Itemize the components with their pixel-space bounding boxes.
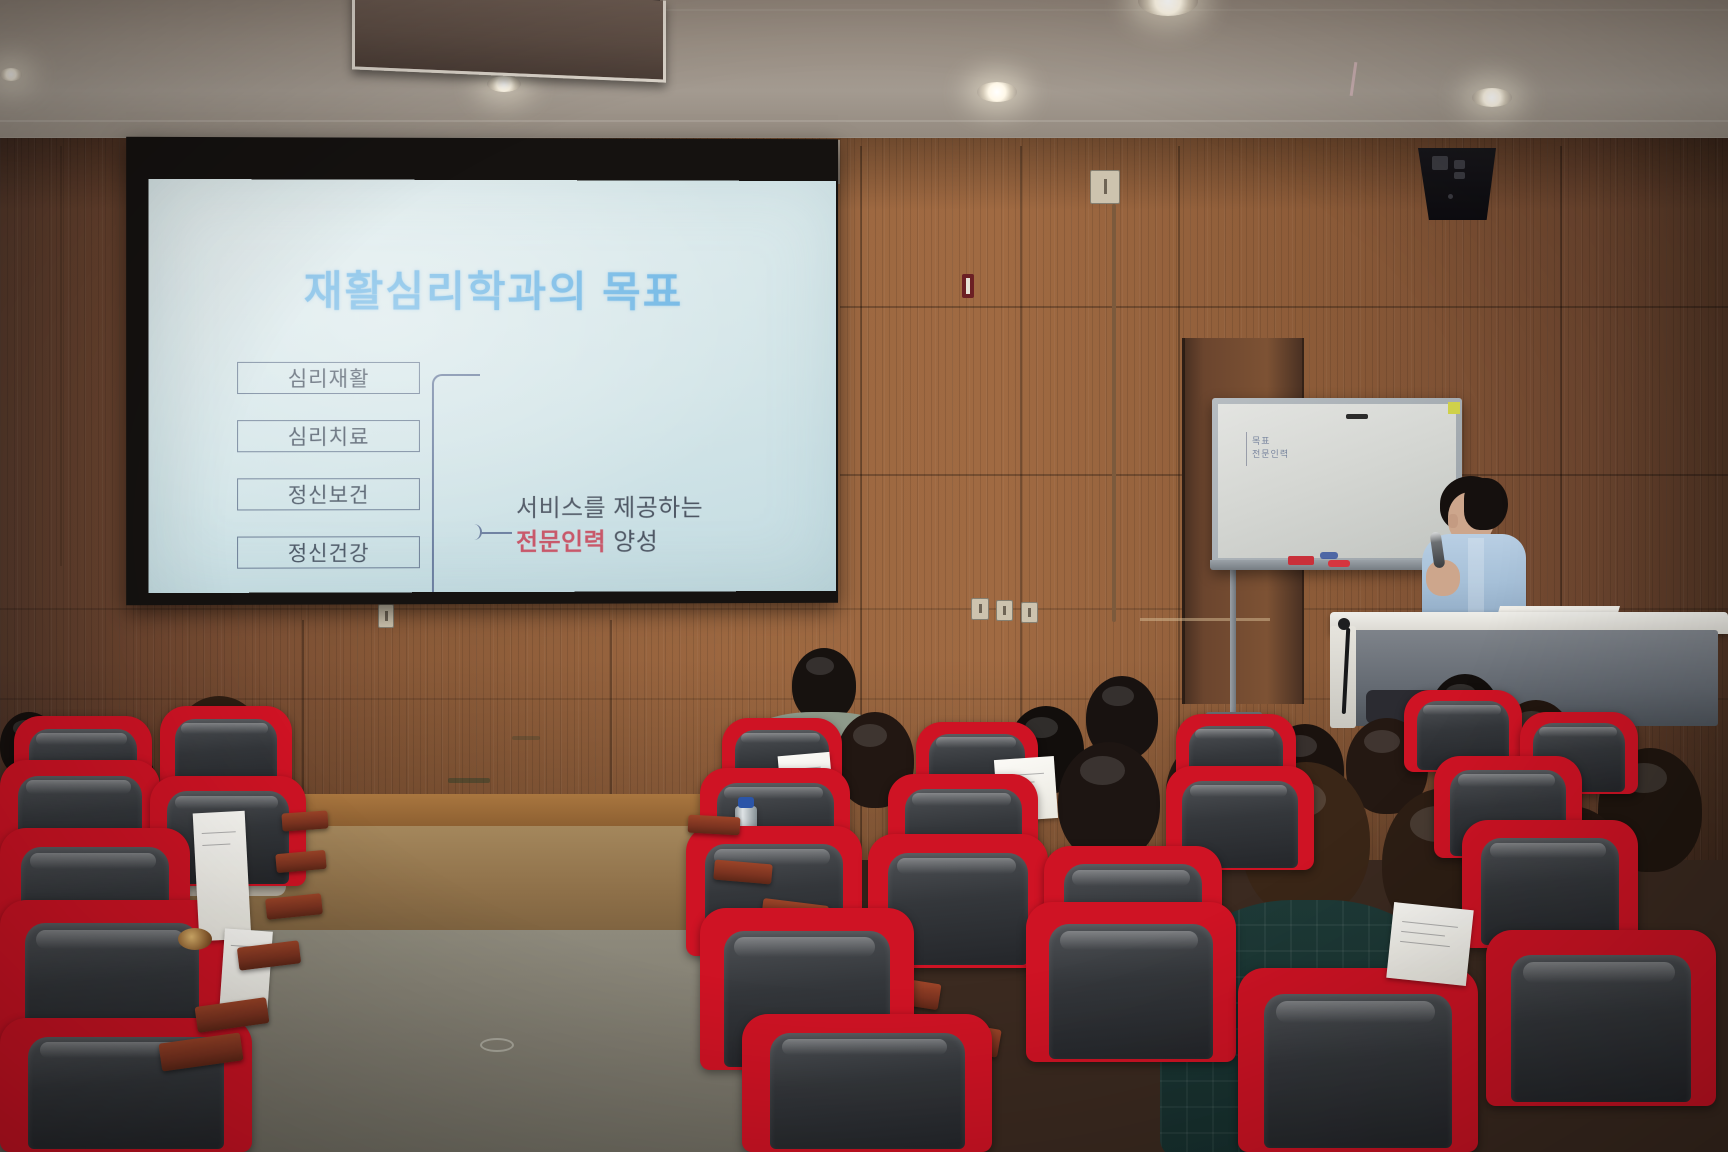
slide-title: 재활심리학과의 목표	[148, 257, 836, 319]
wall-trim	[1140, 618, 1270, 621]
presenter-speaking	[1418, 476, 1528, 626]
wall-outlet-right[interactable]	[1021, 602, 1038, 623]
microphone-stand-head	[1338, 618, 1350, 630]
floor-marking	[512, 736, 540, 740]
lecture-hall-scene: 재활심리학과의 목표 심리재활 심리치료 정신보건 정신건강 서비스를 제공하는…	[0, 0, 1728, 1152]
presenter-hair-back	[1464, 478, 1508, 530]
slide-brace-point	[468, 524, 482, 540]
seat-armrest	[688, 815, 741, 836]
slide-box-item: 정신건강	[237, 536, 420, 569]
slide-box-list: 심리재활 심리치료 정신보건 정신건강	[237, 362, 420, 593]
ceiling-downlight	[1472, 88, 1512, 107]
whiteboard-magnet[interactable]	[1346, 414, 1368, 419]
stage-floor-outlet[interactable]	[378, 604, 394, 628]
auditorium-seat[interactable]	[742, 1014, 992, 1152]
ceiling-downlight	[487, 76, 521, 92]
auditorium-seat[interactable]	[1486, 930, 1716, 1106]
slide-outcome-line1: 서비스를 제공하는	[516, 491, 814, 526]
handout-paper[interactable]	[1386, 902, 1474, 986]
handout-paper[interactable]	[193, 811, 252, 942]
red-marker[interactable]	[1328, 560, 1350, 567]
slide-outcome-text: 서비스를 제공하는 전문인력 양성	[516, 491, 814, 560]
projection-screen: 재활심리학과의 목표 심리재활 심리치료 정신보건 정신건강 서비스를 제공하는…	[148, 179, 836, 593]
whiteboard-corner-tag	[1448, 402, 1460, 414]
audience-head	[792, 648, 856, 722]
wall-mounted-loudspeaker	[1418, 148, 1496, 220]
floor-marking	[448, 778, 490, 783]
slide-box-item: 정신보건	[237, 478, 420, 510]
red-eraser[interactable]	[1288, 556, 1314, 565]
presenter-face-shadow	[1448, 514, 1458, 528]
ceiling	[0, 0, 1728, 152]
slide-brace-stem	[480, 532, 512, 534]
ceiling-downlight	[977, 82, 1017, 102]
decorative-pouch[interactable]	[178, 928, 212, 950]
ceiling-projector-housing	[352, 0, 666, 83]
slide-outcome-highlight: 전문인력	[516, 529, 606, 556]
auditorium-seat[interactable]	[1238, 968, 1478, 1152]
slide-outcome-line2: 전문인력 양성	[516, 525, 814, 560]
auditorium-seat[interactable]	[1462, 820, 1638, 948]
slide-outcome-rest: 양성	[606, 529, 658, 556]
emergency-switch[interactable]	[962, 274, 974, 298]
whiteboard-note-line2: 전문인력	[1252, 449, 1289, 460]
slide-box-item: 심리재활	[237, 362, 420, 394]
presenter-shirt-placket	[1468, 538, 1484, 622]
slide-brace	[432, 374, 480, 593]
audience-head	[1058, 742, 1160, 862]
whiteboard-stroke	[1246, 432, 1247, 466]
whiteboard-note-line1: 목표	[1252, 436, 1271, 447]
wall-conduit	[1112, 204, 1116, 622]
ceiling-downlight	[0, 68, 22, 81]
seat-armrest	[281, 810, 328, 831]
blue-marker[interactable]	[1320, 552, 1338, 559]
whiteboard-leg	[1230, 566, 1236, 718]
floor-drain	[480, 1038, 514, 1052]
wall-outlet-center[interactable]	[996, 600, 1013, 621]
wall-panel-box[interactable]	[1090, 170, 1120, 204]
slide-box-item: 심리치료	[237, 420, 420, 452]
wall-outlet-left[interactable]	[971, 598, 989, 620]
auditorium-seat[interactable]	[1026, 902, 1236, 1062]
presentation-slide: 재활심리학과의 목표 심리재활 심리치료 정신보건 정신건강 서비스를 제공하는…	[148, 179, 836, 593]
